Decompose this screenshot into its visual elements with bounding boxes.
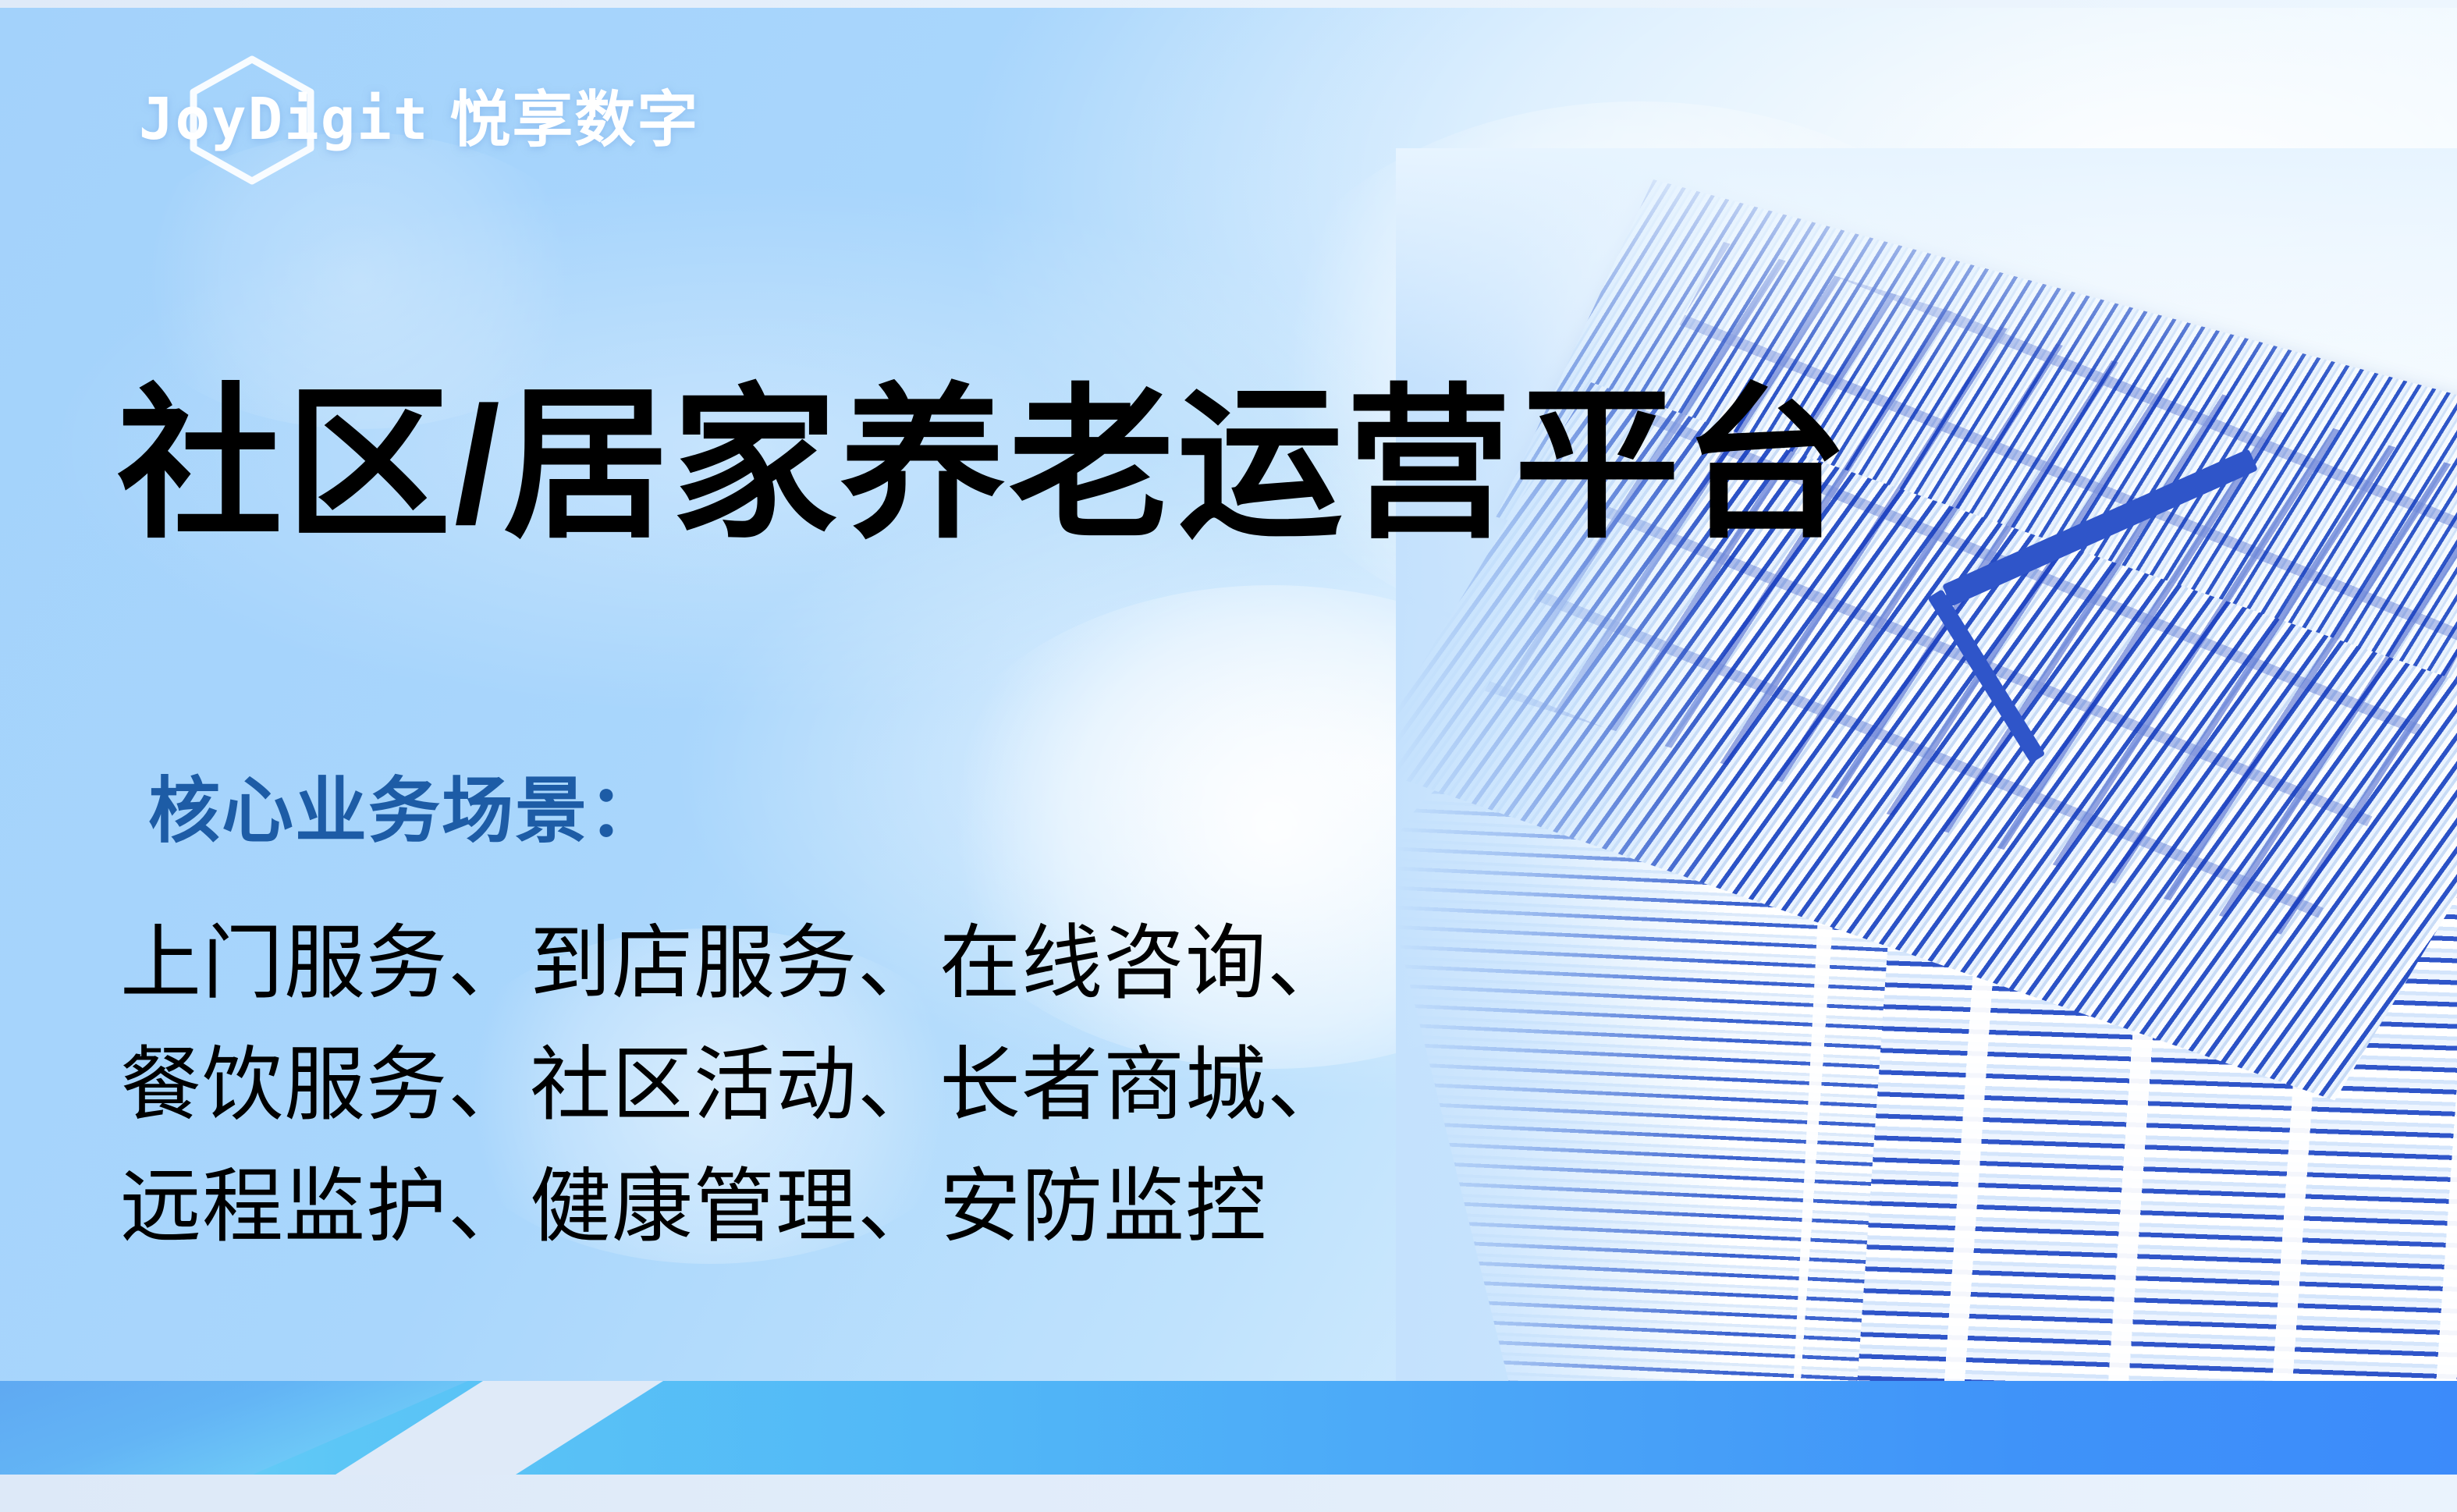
core-business-scenarios-block: 核心业务场景： 上门服务、到店服务、在线咨询、 餐饮服务、社区活动、长者商城、 … bbox=[148, 772, 1349, 1268]
section-kicker: 核心业务场景： bbox=[148, 772, 1349, 851]
bottom-decorative-band bbox=[0, 1381, 2457, 1475]
skyscraper-photo bbox=[1396, 148, 2457, 1475]
list-item: 上门服务、到店服务、在线咨询、 bbox=[120, 903, 1349, 1024]
list-item: 远程监护、健康管理、安防监控 bbox=[120, 1146, 1349, 1268]
cloud-decoration bbox=[1420, 928, 2013, 1334]
page-title: 社区/居家养老运营平台 bbox=[117, 376, 1852, 555]
brand-name-chinese: 悦享数字 bbox=[449, 89, 699, 150]
slide-community-home-elderly-care-platform: JoyDigit 悦享数字 社区/居家养老运营平台 核心业务场景： 上门服务、到… bbox=[0, 0, 2457, 1512]
top-margin-strip bbox=[0, 0, 2457, 8]
brand-mark-text: JoyDigit bbox=[139, 91, 429, 148]
list-item: 餐饮服务、社区活动、长者商城、 bbox=[120, 1024, 1349, 1146]
slide-canvas: JoyDigit 悦享数字 社区/居家养老运营平台 核心业务场景： 上门服务、到… bbox=[0, 8, 2457, 1475]
building-pillars bbox=[1787, 595, 2457, 1475]
photo-top-fade bbox=[1396, 148, 2457, 382]
building-parapet-bracket bbox=[1927, 589, 2045, 764]
building-lower-left-facade bbox=[1396, 701, 2312, 1475]
building-parapet bbox=[1942, 449, 2258, 606]
building-lower-right-facade bbox=[1848, 594, 2457, 1475]
photo-left-fade bbox=[1396, 148, 1731, 1475]
bottom-margin-strip bbox=[0, 1475, 2457, 1512]
scenario-list: 上门服务、到店服务、在线咨询、 餐饮服务、社区活动、长者商城、 远程监护、健康管… bbox=[148, 903, 1349, 1268]
brand-logo: JoyDigit 悦享数字 bbox=[139, 76, 699, 162]
building-window-accents bbox=[1485, 242, 2457, 942]
